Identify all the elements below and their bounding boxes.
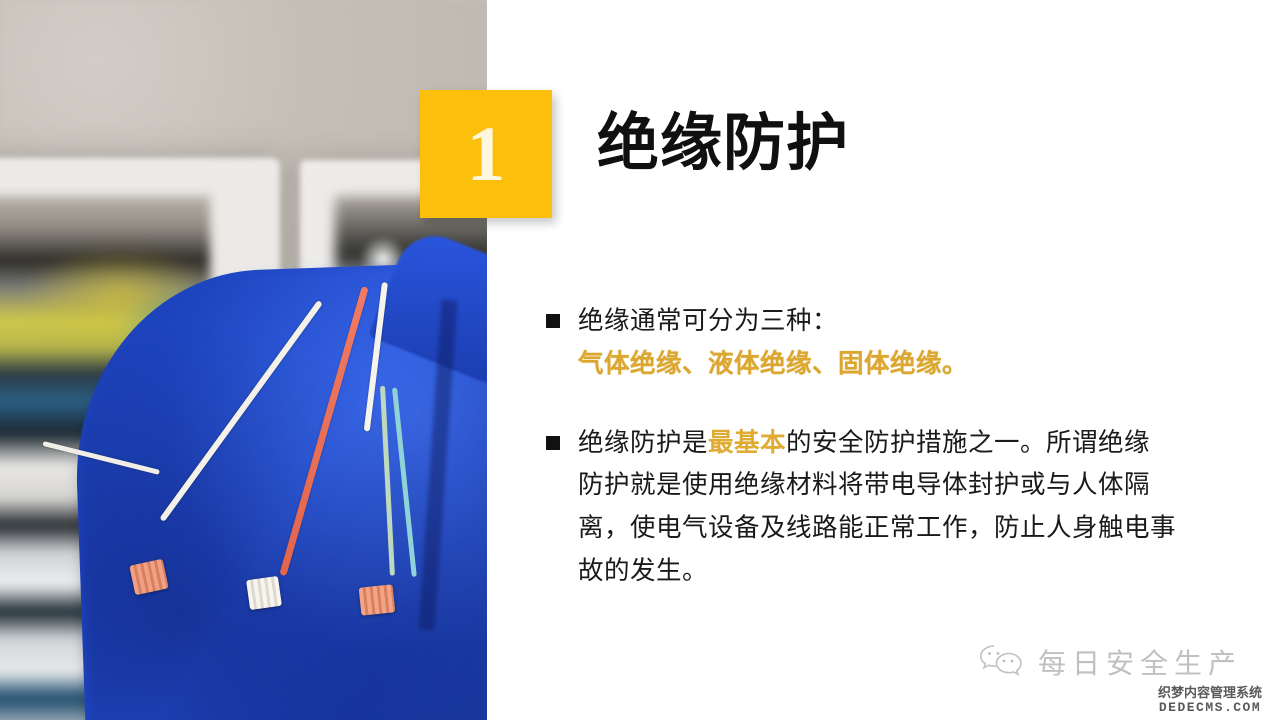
dedecms-watermark: 织梦内容管理系统 DEDECMS.COM [1158, 686, 1262, 716]
photo-connector-white-center [246, 576, 282, 610]
section-number-badge: 1 [420, 90, 552, 218]
slide-root: 1 绝缘防护 绝缘通常可分为三种： 气体绝缘、液体绝缘、固体绝缘。 绝缘防护是最… [0, 0, 1280, 720]
wechat-watermark: 每日安全生产 [978, 642, 1242, 682]
square-bullet-icon [546, 314, 560, 328]
bullet-2-paragraph: 绝缘防护是最基本的安全防护措施之一。所谓绝缘防护就是使用绝缘材料将带电导体封护或… [578, 422, 1176, 593]
wechat-account-name: 每日安全生产 [1038, 642, 1242, 682]
square-bullet-icon [546, 436, 560, 450]
bullet-1-line-1: 绝缘通常可分为三种： [578, 300, 1176, 343]
dedecms-watermark-en: DEDECMS.COM [1158, 701, 1262, 716]
dedecms-watermark-cn: 织梦内容管理系统 [1158, 686, 1262, 701]
bullet-spacer [546, 404, 1176, 422]
wechat-icon [978, 643, 1026, 682]
page-title: 绝缘防护 [597, 110, 849, 178]
bullet-2-highlight: 最基本 [708, 429, 786, 457]
bullet-item-2: 绝缘防护是最基本的安全防护措施之一。所谓绝缘防护就是使用绝缘材料将带电导体封护或… [546, 422, 1176, 593]
bullet-2-text-before: 绝缘防护是 [578, 429, 708, 457]
section-number-label: 1 [467, 115, 506, 193]
bullet-item-1: 绝缘通常可分为三种： 气体绝缘、液体绝缘、固体绝缘。 [546, 300, 1176, 386]
slide-body: 绝缘通常可分为三种： 气体绝缘、液体绝缘、固体绝缘。 绝缘防护是最基本的安全防护… [546, 300, 1176, 611]
photo-connector-orange-right [359, 584, 396, 615]
slide-photo [0, 0, 487, 720]
bullet-1-line-2: 气体绝缘、液体绝缘、固体绝缘。 [578, 343, 1176, 386]
